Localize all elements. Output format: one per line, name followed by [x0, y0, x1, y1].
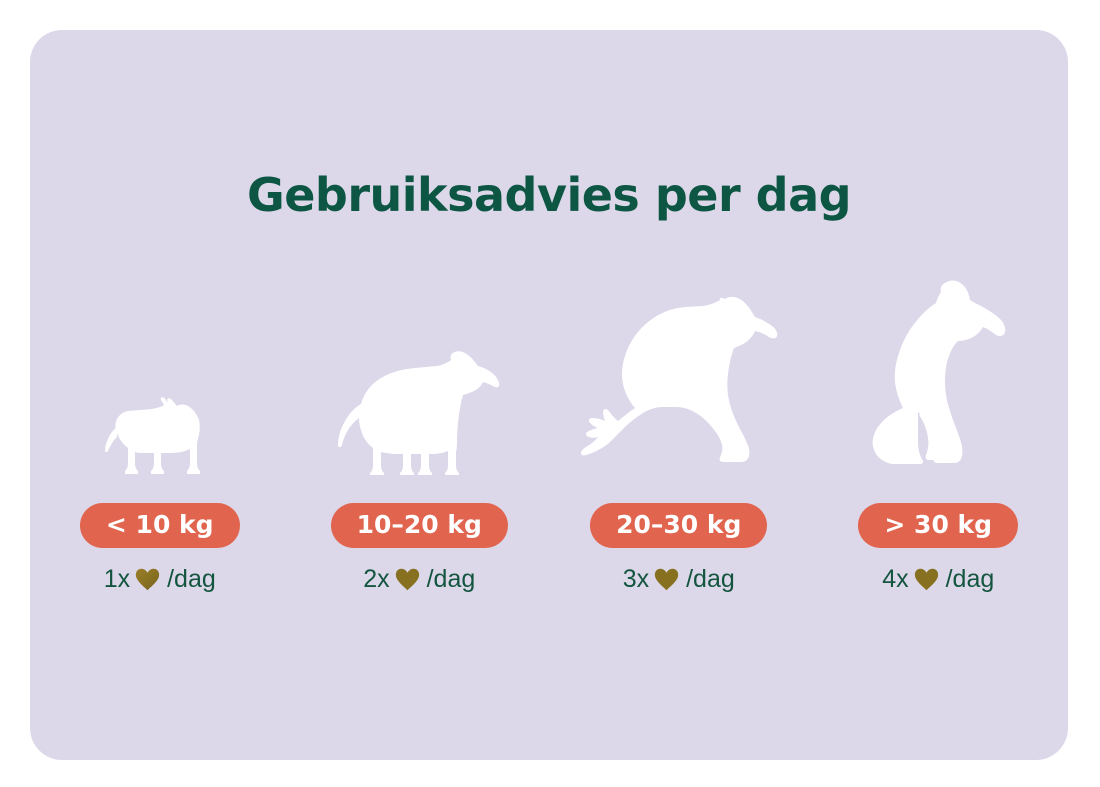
small-dog-standing-icon	[40, 270, 280, 475]
size-column-small: < 10 kg 1x /dag	[40, 270, 280, 592]
dose-count: 3x	[623, 567, 649, 592]
feeding-advice-card: Gebruiksadvies per dag < 10 kg 1x	[30, 30, 1068, 760]
size-column-xlarge: > 30 kg 4x /dag	[818, 270, 1058, 592]
dose-count: 2x	[363, 567, 389, 592]
dose-line: 3x /dag	[623, 567, 735, 592]
heart-kibble-icon	[914, 568, 939, 591]
extra-large-dog-sitting-icon	[818, 270, 1058, 475]
dose-unit: /dag	[946, 567, 995, 592]
weight-badge[interactable]: 20–30 kg	[590, 503, 767, 548]
size-column-large: 20–30 kg 3x /dag	[559, 270, 799, 592]
dose-line: 4x /dag	[882, 567, 994, 592]
dose-unit: /dag	[167, 567, 216, 592]
weight-badge[interactable]: > 30 kg	[858, 503, 1018, 548]
weight-badge[interactable]: 10–20 kg	[331, 503, 508, 548]
heart-kibble-icon	[395, 568, 420, 591]
dose-line: 1x /dag	[104, 567, 216, 592]
weight-badge[interactable]: < 10 kg	[80, 503, 240, 548]
heart-kibble-icon	[654, 568, 679, 591]
large-dog-sitting-icon	[559, 270, 799, 475]
dose-count: 4x	[882, 567, 908, 592]
page-title: Gebruiksadvies per dag	[30, 168, 1068, 222]
dose-unit: /dag	[686, 567, 735, 592]
dose-line: 2x /dag	[363, 567, 475, 592]
medium-dog-standing-icon	[299, 270, 539, 475]
size-column-medium: 10–20 kg 2x /dag	[299, 270, 539, 592]
heart-kibble-icon	[135, 568, 160, 591]
dose-count: 1x	[104, 567, 130, 592]
size-columns-row: < 10 kg 1x /dag	[30, 270, 1068, 592]
dose-unit: /dag	[427, 567, 476, 592]
